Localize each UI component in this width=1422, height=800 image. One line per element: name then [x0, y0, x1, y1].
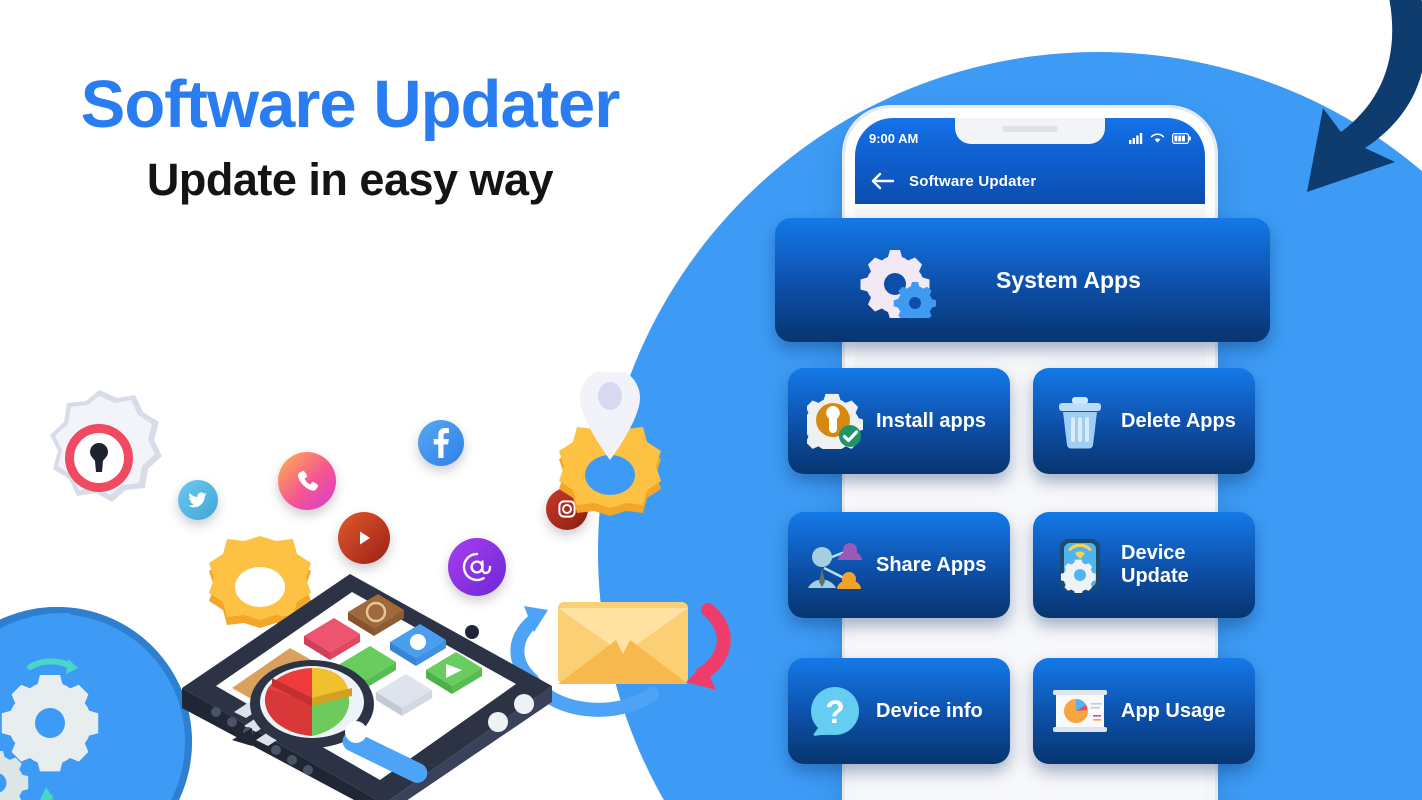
svg-text:?: ?	[825, 694, 845, 730]
trash-icon	[1051, 393, 1109, 449]
gears-icon	[860, 242, 936, 318]
question-bubble-icon: ?	[806, 684, 864, 738]
signal-icon	[1129, 132, 1143, 144]
promo-copy: Software Updater Update in easy way	[0, 70, 700, 206]
location-pin-gear-icon	[530, 372, 690, 524]
status-bar: 9:00 AM	[855, 118, 1205, 158]
tile-delete-apps[interactable]: Delete Apps	[1033, 368, 1255, 474]
wifi-icon	[1150, 132, 1165, 144]
curved-arrow-icon	[1245, 0, 1422, 210]
tile-share-apps[interactable]: Share Apps	[788, 512, 1010, 618]
tile-label: Share Apps	[876, 554, 986, 577]
illustration-cluster	[0, 370, 720, 800]
lock-gear-icon	[22, 382, 177, 542]
tile-app-usage[interactable]: App Usage	[1033, 658, 1255, 764]
tile-label: System Apps	[996, 267, 1141, 294]
speaker-grill	[1002, 126, 1058, 132]
tile-install-apps[interactable]: Install apps	[788, 368, 1010, 474]
pie-chart-board-icon	[1051, 686, 1109, 736]
phone-wifi-gear-icon	[1051, 537, 1109, 593]
tile-device-update[interactable]: Device Update	[1033, 512, 1255, 618]
app-bar-title: Software Updater	[909, 173, 1036, 190]
back-arrow-icon[interactable]	[871, 172, 895, 190]
battery-icon	[1172, 133, 1191, 144]
tile-system-apps[interactable]: System Apps	[775, 218, 1270, 342]
phone-bubble	[278, 452, 336, 510]
tile-device-info[interactable]: ? Device info	[788, 658, 1010, 764]
share-people-icon	[806, 538, 864, 592]
gear-wrench-check-icon	[806, 393, 864, 449]
tile-label: Delete Apps	[1121, 410, 1236, 433]
notch	[955, 118, 1105, 144]
tile-label: App Usage	[1121, 700, 1225, 723]
tile-label: Device Update	[1121, 542, 1255, 588]
page-subtitle: Update in easy way	[0, 154, 700, 206]
tile-label: Device info	[876, 700, 983, 723]
promo-banner: Software Updater Update in easy way 9:00…	[0, 0, 1422, 800]
twitter-bubble	[178, 480, 218, 520]
page-title: Software Updater	[0, 70, 700, 140]
facebook-bubble	[418, 420, 464, 466]
app-bar: Software Updater	[855, 158, 1205, 204]
status-time: 9:00 AM	[869, 131, 918, 146]
tile-label: Install apps	[876, 410, 986, 433]
tablet-device-icon	[172, 536, 562, 800]
